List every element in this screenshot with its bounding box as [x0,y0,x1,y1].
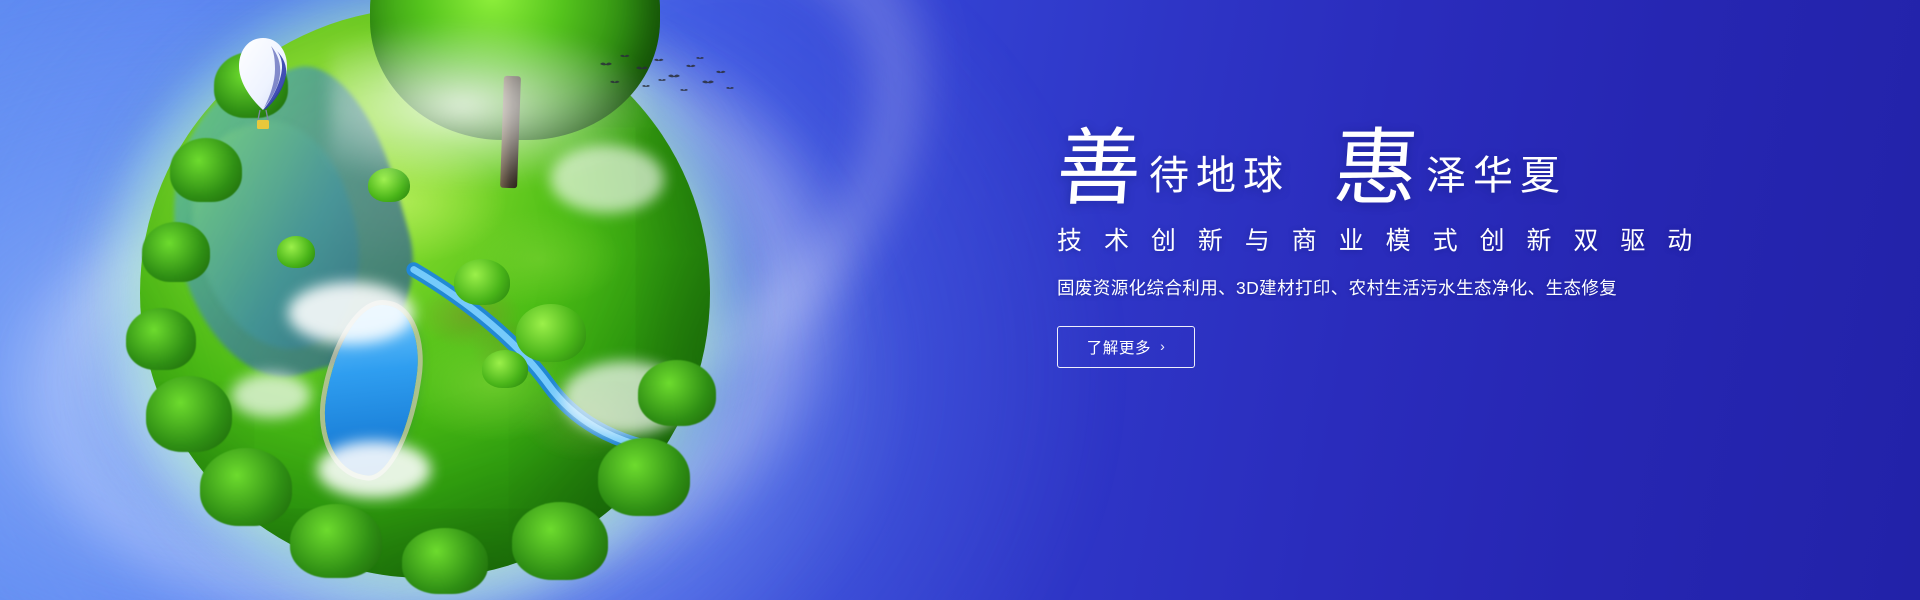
headline-part1-secondary: 待地球 [1141,156,1290,207]
rim-tree [170,138,242,202]
hero-content: 善 待地球 惠 泽华夏 技 术 创 新 与 商 业 模 式 创 新 双 驱 动 … [1057,130,1817,368]
learn-more-button[interactable]: 了解更多 › [1057,326,1195,368]
page-subtitle: 技 术 创 新 与 商 业 模 式 创 新 双 驱 动 [1057,221,1817,257]
rim-tree [146,376,232,452]
planet-cloud [288,282,413,345]
shrub [482,350,528,388]
rim-tree [290,504,382,578]
headline-part2-primary: 惠 [1331,130,1420,207]
rim-tree [126,308,196,370]
chevron-right-icon: › [1160,338,1165,354]
hero-banner: 善 待地球 惠 泽华夏 技 术 创 新 与 商 业 模 式 创 新 双 驱 动 … [0,0,1920,600]
rim-tree [598,438,690,516]
rim-tree [638,360,716,426]
shrub [516,304,586,362]
page-description: 固废资源化综合利用、3D建材打印、农村生活污水生态净化、生态修复 [1057,275,1817,300]
shrub [277,236,315,268]
learn-more-label: 了解更多 [1087,336,1151,358]
planet-cloud [317,441,431,498]
headline-part1-primary: 善 [1054,130,1143,207]
rim-tree [142,222,210,282]
mist-veil [330,20,660,190]
rim-tree [512,502,608,580]
bird-flock-icon [596,52,736,98]
hot-air-balloon-icon [236,36,290,138]
headline-part2-secondary: 泽华夏 [1418,156,1567,207]
planet-cloud [231,373,311,419]
shrub [454,259,510,305]
page-title: 善 待地球 惠 泽华夏 [1057,130,1817,207]
rim-tree [200,448,292,526]
rim-tree [402,528,488,594]
